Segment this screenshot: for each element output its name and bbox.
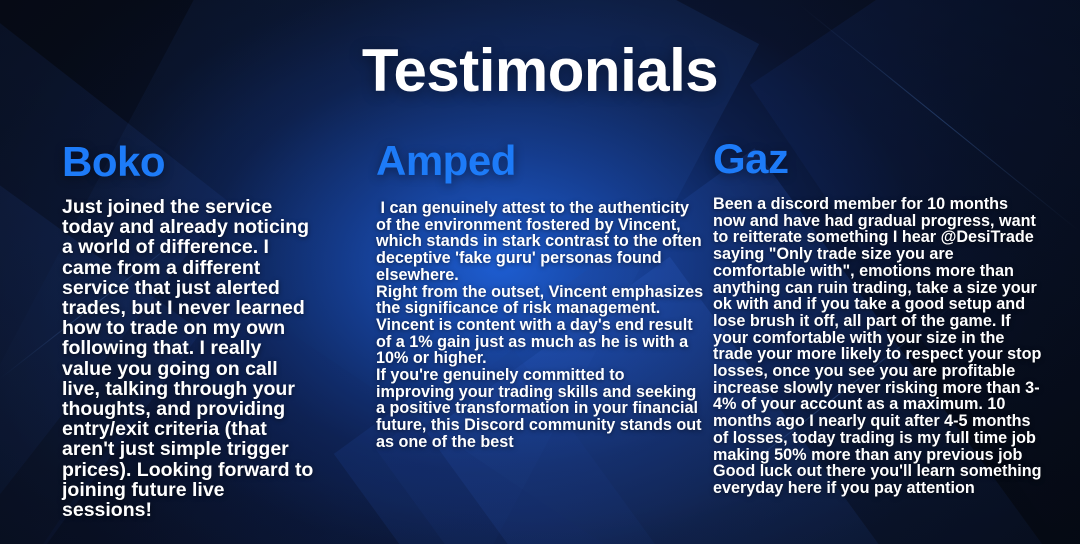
testimonial-text-gaz: Been a discord member for 10 months now …: [713, 196, 1043, 497]
testimonial-author-boko: Boko: [62, 141, 314, 183]
testimonial-text-amped: I can genuinely attest to the authentici…: [376, 200, 706, 451]
slide-content: Testimonials Boko Just joined the servic…: [0, 0, 1080, 544]
testimonial-author-gaz: Gaz: [713, 138, 1043, 180]
testimonial-card-boko: Boko Just joined the service today and a…: [62, 141, 314, 520]
testimonial-card-gaz: Gaz Been a discord member for 10 months …: [713, 138, 1043, 497]
testimonial-text-boko: Just joined the service today and alread…: [62, 197, 314, 520]
testimonial-card-amped: Amped I can genuinely attest to the auth…: [376, 140, 706, 451]
testimonials-slide: Testimonials Boko Just joined the servic…: [0, 0, 1080, 544]
page-title: Testimonials: [0, 41, 1080, 101]
testimonial-author-amped: Amped: [376, 140, 706, 182]
